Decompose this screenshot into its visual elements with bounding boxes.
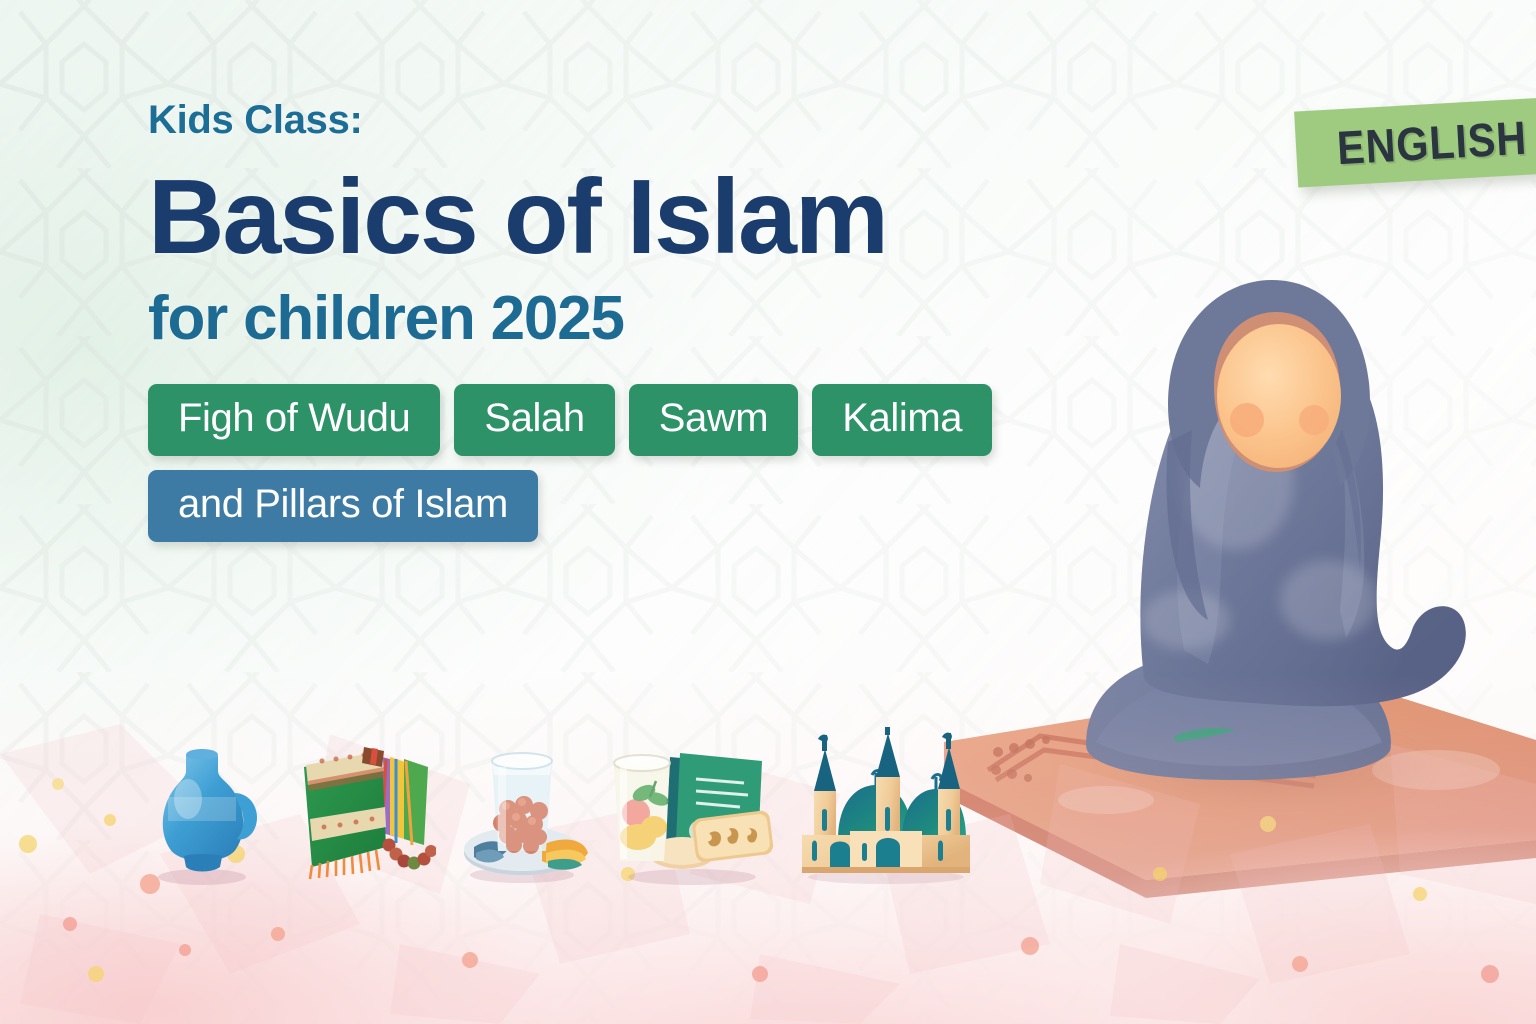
illustration-strip [140, 722, 960, 887]
iftar-quran-icon [608, 727, 778, 887]
dates-glass-icon [452, 727, 592, 887]
cheek-blush-left [1230, 403, 1264, 437]
water-jug-icon [140, 727, 270, 887]
headline-block: Kids Class: Basics of Islam for children… [148, 100, 1148, 542]
subtitle-text: for children 2025 [148, 288, 1148, 350]
mosque-icon [794, 727, 979, 887]
page-title: Basics of Islam [148, 164, 1148, 270]
eyebrow-text: Kids Class: [148, 100, 1148, 140]
topic-pill-salah[interactable]: Salah [454, 384, 614, 456]
language-badge: ENGLISH [1294, 96, 1536, 187]
topic-pill-figh-of-wudu[interactable]: Figh of Wudu [148, 384, 440, 456]
topic-pill-pillars-of-islam[interactable]: and Pillars of Islam [148, 470, 538, 542]
language-badge-label: ENGLISH [1336, 109, 1529, 175]
topic-pill-kalima[interactable]: Kalima [812, 384, 992, 456]
topic-pill-sawm[interactable]: Sawm [629, 384, 799, 456]
topic-pill-row-primary: Figh of Wudu Salah Sawm Kalima [148, 384, 1128, 456]
tasbih-beads [383, 839, 437, 870]
promo-banner: ENGLISH Kids Class: Basics of Islam for … [0, 0, 1536, 1024]
prayer-rug-icon [286, 727, 436, 887]
topic-pill-row-secondary: and Pillars of Islam [148, 470, 1128, 542]
cheek-blush-right [1299, 405, 1329, 435]
